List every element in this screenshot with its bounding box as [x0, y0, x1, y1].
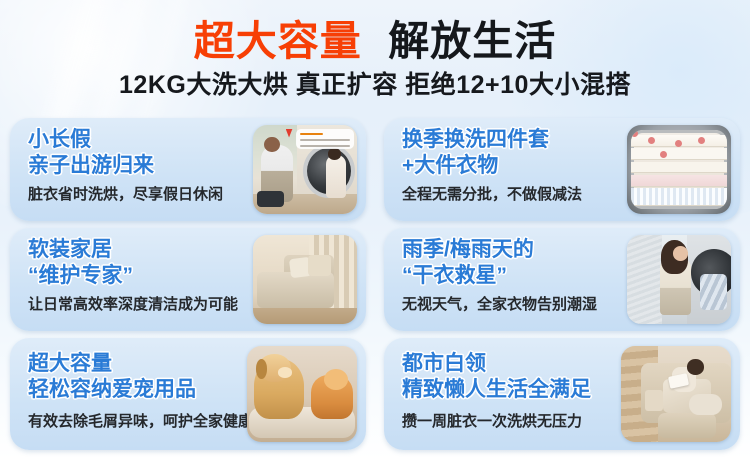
card-title-line2: 精致懒人生活全满足 [402, 377, 617, 402]
headline-secondary: 解放生活 [388, 18, 556, 64]
feature-card-6[interactable]: 都市白领 精致懒人生活全满足 攒一周脏衣一次洗烘无压力 [384, 338, 740, 450]
card-text-block: 超大容量 轻松容纳爱宠用品 有效去除毛屑异味，呵护全家健康 [10, 338, 243, 450]
card-text-block: 雨季/梅雨天的 “干衣救星” 无视天气，全家衣物告别潮湿 [384, 228, 623, 331]
promo-banner: 超大容量 解放生活 12KG大洗大烘 真正扩容 拒绝12+10大小混搭 小长假 … [0, 0, 750, 460]
card-title-line1: 换季换洗四件套 [402, 127, 623, 152]
card-text-block: 换季换洗四件套 +大件衣物 全程无需分批，不做假减法 [384, 118, 623, 221]
card-subtitle: 让日常高效率深度清洁成为可能 [28, 295, 249, 314]
photo-woman-loading-dryer [627, 235, 731, 324]
card-title-line1: 超大容量 [28, 351, 243, 376]
card-title-line1: 小长假 [28, 127, 249, 152]
card-subtitle: 攒一周脏衣一次洗烘无压力 [402, 412, 617, 431]
card-subtitle: 全程无需分批，不做假减法 [402, 185, 623, 204]
feature-card-grid: 小长假 亲子出游归来 脏衣省时洗烘，尽享假日休闲 换季换洗四件套 +大件衣物 全… [10, 118, 740, 450]
photo-father-child-washer [253, 125, 357, 214]
card-title-line2: +大件衣物 [402, 153, 623, 178]
card-text-block: 软装家居 “维护专家” 让日常高效率深度清洁成为可能 [10, 228, 249, 331]
card-title-line1: 软装家居 [28, 237, 249, 262]
photo-dog-and-cat [247, 346, 357, 442]
photo-woman-relaxing-sofa [621, 346, 731, 442]
banner-header: 超大容量 解放生活 12KG大洗大烘 真正扩容 拒绝12+10大小混搭 [0, 0, 750, 100]
card-title-line1: 雨季/梅雨天的 [402, 237, 623, 262]
feature-card-1[interactable]: 小长假 亲子出游归来 脏衣省时洗烘，尽享假日休闲 [10, 118, 366, 221]
card-subtitle: 无视天气，全家衣物告别潮湿 [402, 295, 623, 314]
card-text-block: 小长假 亲子出游归来 脏衣省时洗烘，尽享假日休闲 [10, 118, 249, 221]
feature-card-5[interactable]: 超大容量 轻松容纳爱宠用品 有效去除毛屑异味，呵护全家健康 [10, 338, 366, 450]
feature-card-4[interactable]: 雨季/梅雨天的 “干衣救星” 无视天气，全家衣物告别潮湿 [384, 228, 740, 331]
page-subtitle: 12KG大洗大烘 真正扩容 拒绝12+10大小混搭 [0, 70, 750, 100]
photo-bedding-in-drum [627, 125, 731, 214]
page-title: 超大容量 解放生活 [0, 18, 750, 64]
card-title-line1: 都市白领 [402, 351, 617, 376]
card-title-line2: 轻松容纳爱宠用品 [28, 377, 243, 402]
card-title-line2: 亲子出游归来 [28, 153, 249, 178]
headline-highlight: 超大容量 [194, 18, 362, 64]
feature-card-3[interactable]: 软装家居 “维护专家” 让日常高效率深度清洁成为可能 [10, 228, 366, 331]
card-title-line2: “干衣救星” [402, 263, 623, 288]
card-text-block: 都市白领 精致懒人生活全满足 攒一周脏衣一次洗烘无压力 [384, 338, 617, 450]
photo-sofa-curtain [253, 235, 357, 324]
card-subtitle: 脏衣省时洗烘，尽享假日休闲 [28, 185, 249, 204]
card-subtitle: 有效去除毛屑异味，呵护全家健康 [28, 412, 243, 431]
card-title-line2: “维护专家” [28, 263, 249, 288]
feature-card-2[interactable]: 换季换洗四件套 +大件衣物 全程无需分批，不做假减法 [384, 118, 740, 221]
